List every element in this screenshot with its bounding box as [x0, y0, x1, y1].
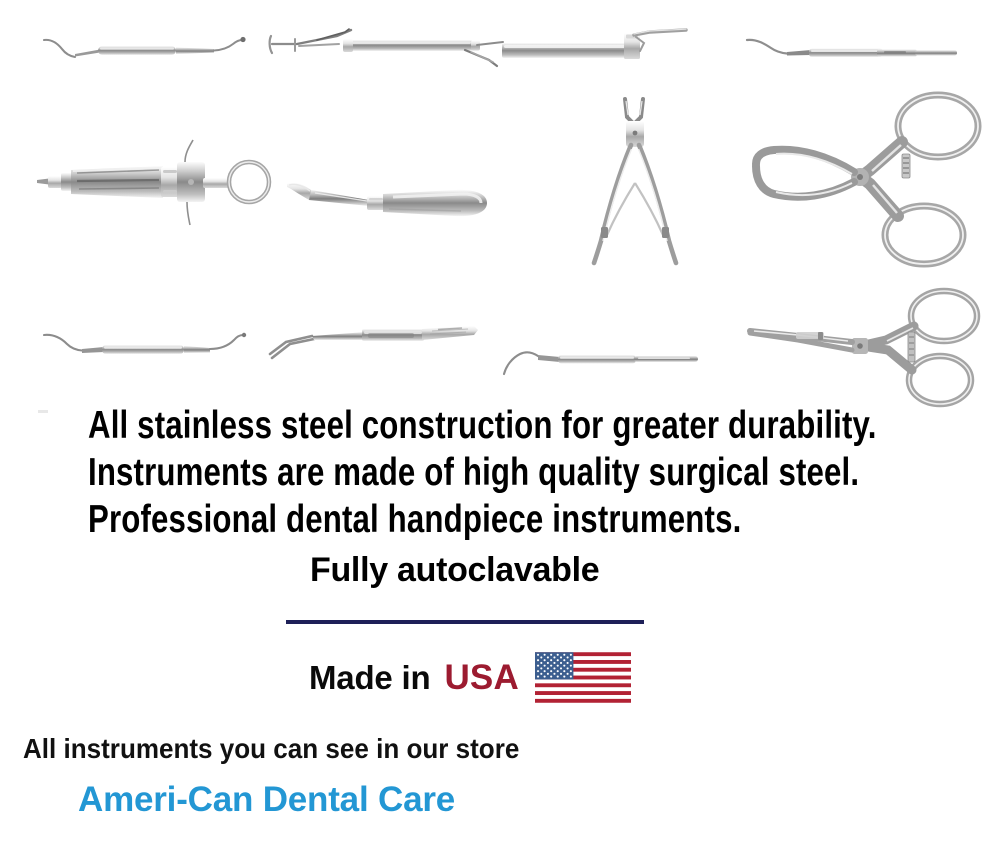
instrument-bone-rongeur — [585, 95, 695, 265]
copy-line-1: All stainless steel construction for gre… — [88, 404, 877, 448]
copy-line-3-plain: dental handpiece instruments. — [277, 498, 741, 541]
instrument-aspirating-syringe — [35, 140, 270, 225]
instrument-towel-clamp — [752, 90, 992, 258]
instrument-bone-file-handle — [500, 25, 700, 70]
us-flag-icon — [535, 652, 631, 703]
copy-line-4: Fully autoclavable — [310, 550, 599, 590]
instrument-gallery — [0, 0, 1000, 400]
brand-name[interactable]: Ameri-Can Dental Care — [78, 780, 455, 820]
copy-line-2: Instruments are made of high quality sur… — [88, 451, 859, 495]
store-tagline: All instruments you can see in our store — [23, 733, 519, 765]
instrument-root-elevator — [285, 160, 495, 218]
usa-label: USA — [444, 658, 519, 698]
instrument-needle-holder — [740, 288, 990, 398]
instrument-tofflemire-matrix-retainer — [265, 20, 485, 76]
instrument-college-tweezers — [268, 320, 483, 368]
instrument-dental-explorer-single — [500, 340, 700, 378]
section-divider — [286, 620, 644, 624]
instrument-composite-filling-instrument — [745, 28, 960, 68]
instrument-dental-explorer-double — [42, 325, 257, 365]
product-banner: All stainless steel construction for gre… — [0, 0, 1000, 847]
made-in-label: Made in — [309, 659, 430, 697]
copy-line-3: Professional dental handpiece instrument… — [88, 498, 741, 542]
copy-line-3-strong: Professional — [88, 498, 277, 541]
made-in-usa-block: Made in USA — [309, 652, 631, 703]
instrument-probe-scaler-double-end — [42, 28, 252, 70]
image-artifact-speck — [38, 410, 48, 413]
